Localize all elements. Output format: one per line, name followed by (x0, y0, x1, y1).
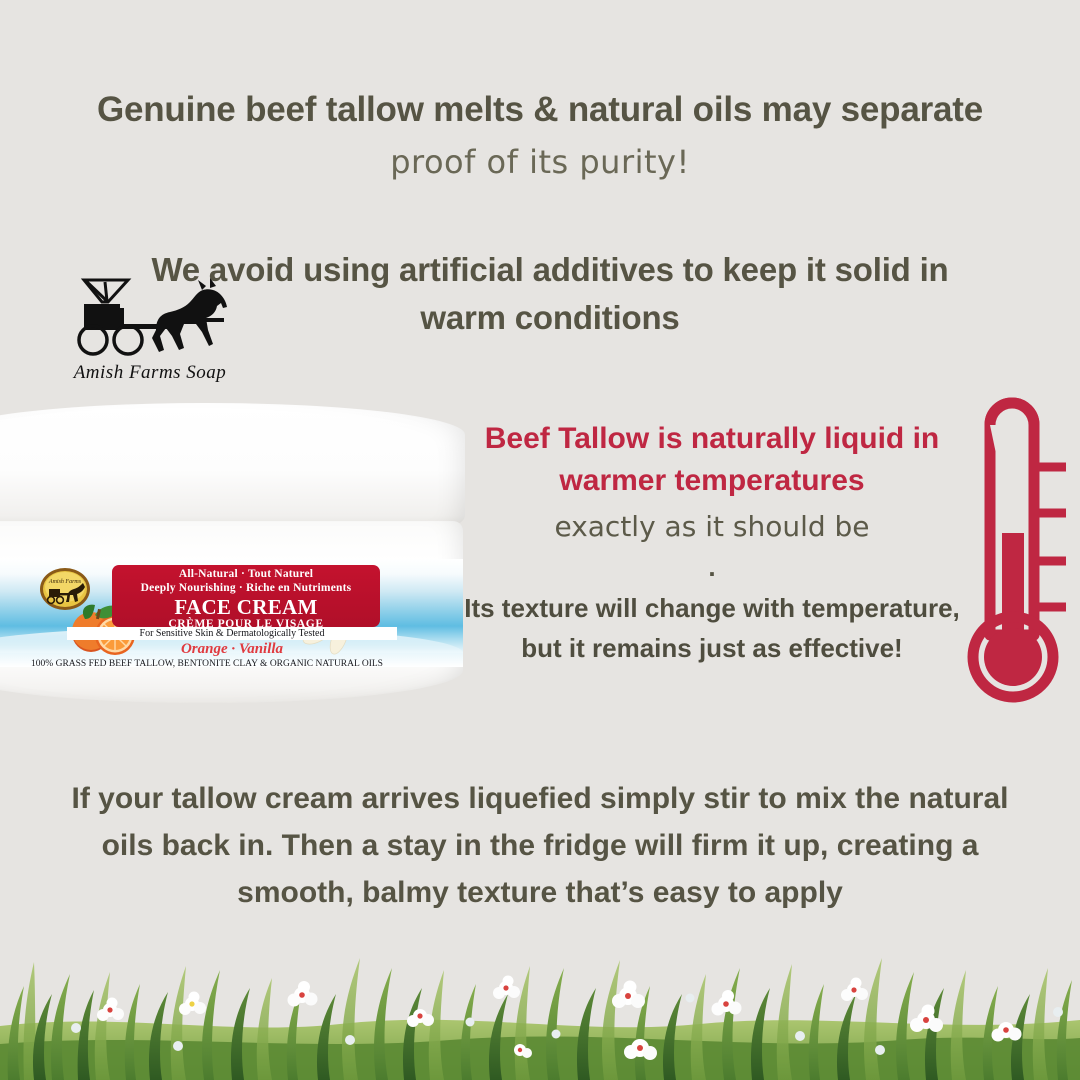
label-line-2: Deeply Nourishing · Riche en Nutriments (112, 582, 380, 596)
soft-subline: exactly as it should be (462, 506, 962, 548)
label-red-plaque: All-Natural · Tout Naturel Deeply Nouris… (112, 565, 380, 627)
product-label: Amish Farms (0, 559, 463, 667)
texture-paragraph: Its texture will change with temperature… (462, 588, 962, 668)
purity-subheadline: proof of its purity! (0, 140, 1080, 184)
dot-separator: . (462, 552, 962, 582)
product-jar: Amish Farms (0, 403, 465, 703)
label-sensitive-note: For Sensitive Skin & Dermatologically Te… (67, 627, 397, 640)
jar-body: Amish Farms (0, 521, 463, 703)
svg-text:Amish Farms: Amish Farms (48, 579, 82, 585)
horse-and-buggy-icon (60, 272, 240, 364)
label-ingredients: 100% GRASS FED BEEF TALLOW, BENTONITE CL… (0, 659, 427, 670)
additives-headline: We avoid using artificial additives to k… (140, 246, 960, 342)
bottom-paragraph: If your tallow cream arrives liquefied s… (70, 775, 1010, 916)
brand-wordmark: Amish Farms Soap (60, 362, 240, 384)
red-heading: Beef Tallow is naturally liquid in warme… (462, 418, 962, 502)
right-text-column: Beef Tallow is naturally liquid in warme… (462, 418, 962, 668)
thermometer-icon (956, 385, 1076, 715)
label-scent: Orange · Vanilla (67, 641, 397, 658)
label-line-1: All-Natural · Tout Naturel (112, 568, 380, 582)
label-title: FACE CREAM (112, 596, 380, 618)
infographic-canvas: Genuine beef tallow melts & natural oils… (0, 0, 1080, 1080)
main-headline: Genuine beef tallow melts & natural oils… (0, 88, 1080, 132)
jar-lid (0, 403, 465, 525)
brand-logo: Amish Farms Soap (60, 272, 240, 392)
grass-with-flowers-border (0, 900, 1080, 1080)
